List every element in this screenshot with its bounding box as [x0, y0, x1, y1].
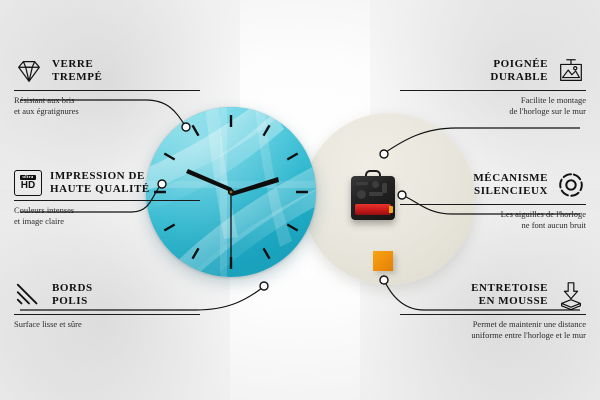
foam-spacer-icon: [556, 280, 586, 310]
feature-entretoise-mousse: ENTRETOISE EN MOUSSE Permet de maintenir…: [400, 280, 586, 341]
feature-impression-hd: ultra HD IMPRESSION DE HAUTE QUALITÉ Cou…: [14, 170, 200, 227]
feature-description: Résistant aux bris et aux égratignures: [14, 95, 200, 117]
feature-description: Surface lisse et sûre: [14, 319, 200, 330]
gear-icon: [556, 170, 586, 200]
feature-title: VERRE TREMPÉ: [52, 58, 102, 84]
feature-poignee-durable: POIGNÉE DURABLE Facilite le montage de l…: [400, 56, 586, 117]
infographic-canvas: VERRE TREMPÉ Résistant aux bris et aux é…: [0, 0, 600, 400]
feature-header: VERRE TREMPÉ: [14, 56, 200, 86]
feature-mecanisme-silencieux: MÉCANISME SILENCIEUX Les aiguilles de l'…: [400, 170, 586, 231]
feature-divider: [14, 314, 200, 315]
polished-edges-icon: [14, 280, 44, 310]
foam-spacer-sample: [373, 251, 393, 271]
feature-divider: [14, 200, 200, 201]
feature-description: Couleurs intenses et image claire: [14, 205, 200, 227]
feature-header: POIGNÉE DURABLE: [400, 56, 586, 86]
mechanism-battery: [355, 204, 391, 215]
feature-title: MÉCANISME SILENCIEUX: [473, 172, 548, 198]
ultra-hd-icon: ultra HD: [14, 170, 42, 196]
feature-title: BORDS POLIS: [52, 282, 93, 308]
feature-header: MÉCANISME SILENCIEUX: [400, 170, 586, 200]
feature-divider: [400, 90, 586, 91]
feature-divider: [14, 90, 200, 91]
feature-divider: [400, 314, 586, 315]
feature-description: Permet de maintenir une distance uniform…: [400, 319, 586, 341]
picture-hanger-icon: [556, 56, 586, 86]
feature-title: ENTRETOISE EN MOUSSE: [471, 282, 548, 308]
feature-header: BORDS POLIS: [14, 280, 200, 310]
feature-title: POIGNÉE DURABLE: [490, 58, 548, 84]
mechanism-body: [351, 176, 395, 220]
clock-mechanism: [351, 176, 395, 220]
feature-header: ultra HD IMPRESSION DE HAUTE QUALITÉ: [14, 170, 200, 196]
feature-header: ENTRETOISE EN MOUSSE: [400, 280, 586, 310]
feature-divider: [400, 204, 586, 205]
feature-verre-trempe: VERRE TREMPÉ Résistant aux bris et aux é…: [14, 56, 200, 117]
feature-bords-polis: BORDS POLIS Surface lisse et sûre: [14, 280, 200, 330]
feature-description: Facilite le montage de l'horloge sur le …: [400, 95, 586, 117]
feature-description: Les aiguilles de l'horloge ne font aucun…: [400, 209, 586, 231]
feature-title: IMPRESSION DE HAUTE QUALITÉ: [50, 170, 150, 196]
diamond-icon: [14, 56, 44, 86]
